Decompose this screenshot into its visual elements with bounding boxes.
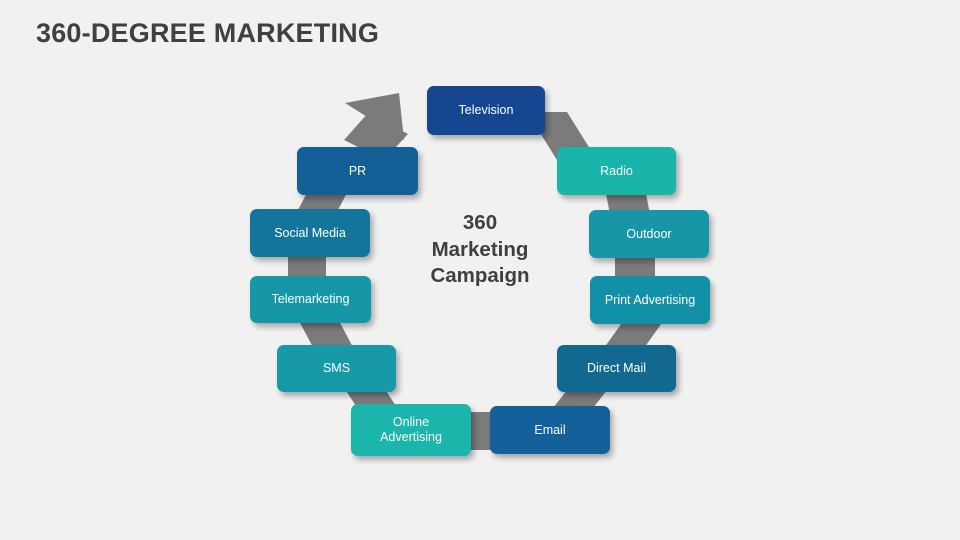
node-label-telemarketing: Telemarketing: [272, 292, 350, 307]
node-email[interactable]: Email: [490, 406, 610, 454]
node-online-advertising[interactable]: Online Advertising: [351, 404, 471, 456]
node-label-television: Television: [459, 103, 514, 118]
slide-canvas: 360-DEGREE MARKETING: [0, 0, 960, 540]
node-label-radio: Radio: [600, 164, 633, 179]
node-outdoor[interactable]: Outdoor: [589, 210, 709, 258]
node-label-print-advertising: Print Advertising: [605, 293, 695, 308]
node-direct-mail[interactable]: Direct Mail: [557, 345, 676, 392]
node-telemarketing[interactable]: Telemarketing: [250, 276, 371, 323]
node-sms[interactable]: SMS: [277, 345, 396, 392]
node-television[interactable]: Television: [427, 86, 545, 135]
node-print-advertising[interactable]: Print Advertising: [590, 276, 710, 324]
node-label-pr: PR: [349, 164, 366, 179]
360-marketing-cycle-diagram: Television Radio Outdoor Print Advertisi…: [0, 0, 960, 540]
node-label-outdoor: Outdoor: [626, 227, 671, 242]
node-label-direct-mail: Direct Mail: [587, 361, 646, 376]
node-label-social-media: Social Media: [274, 226, 346, 241]
node-pr[interactable]: PR: [297, 147, 418, 195]
node-label-sms: SMS: [323, 361, 350, 376]
diagram-center-label: 360 Marketing Campaign: [398, 210, 562, 290]
node-social-media[interactable]: Social Media: [250, 209, 370, 257]
node-radio[interactable]: Radio: [557, 147, 676, 195]
node-label-email: Email: [534, 423, 565, 438]
node-label-online-advertising: Online Advertising: [380, 415, 442, 445]
